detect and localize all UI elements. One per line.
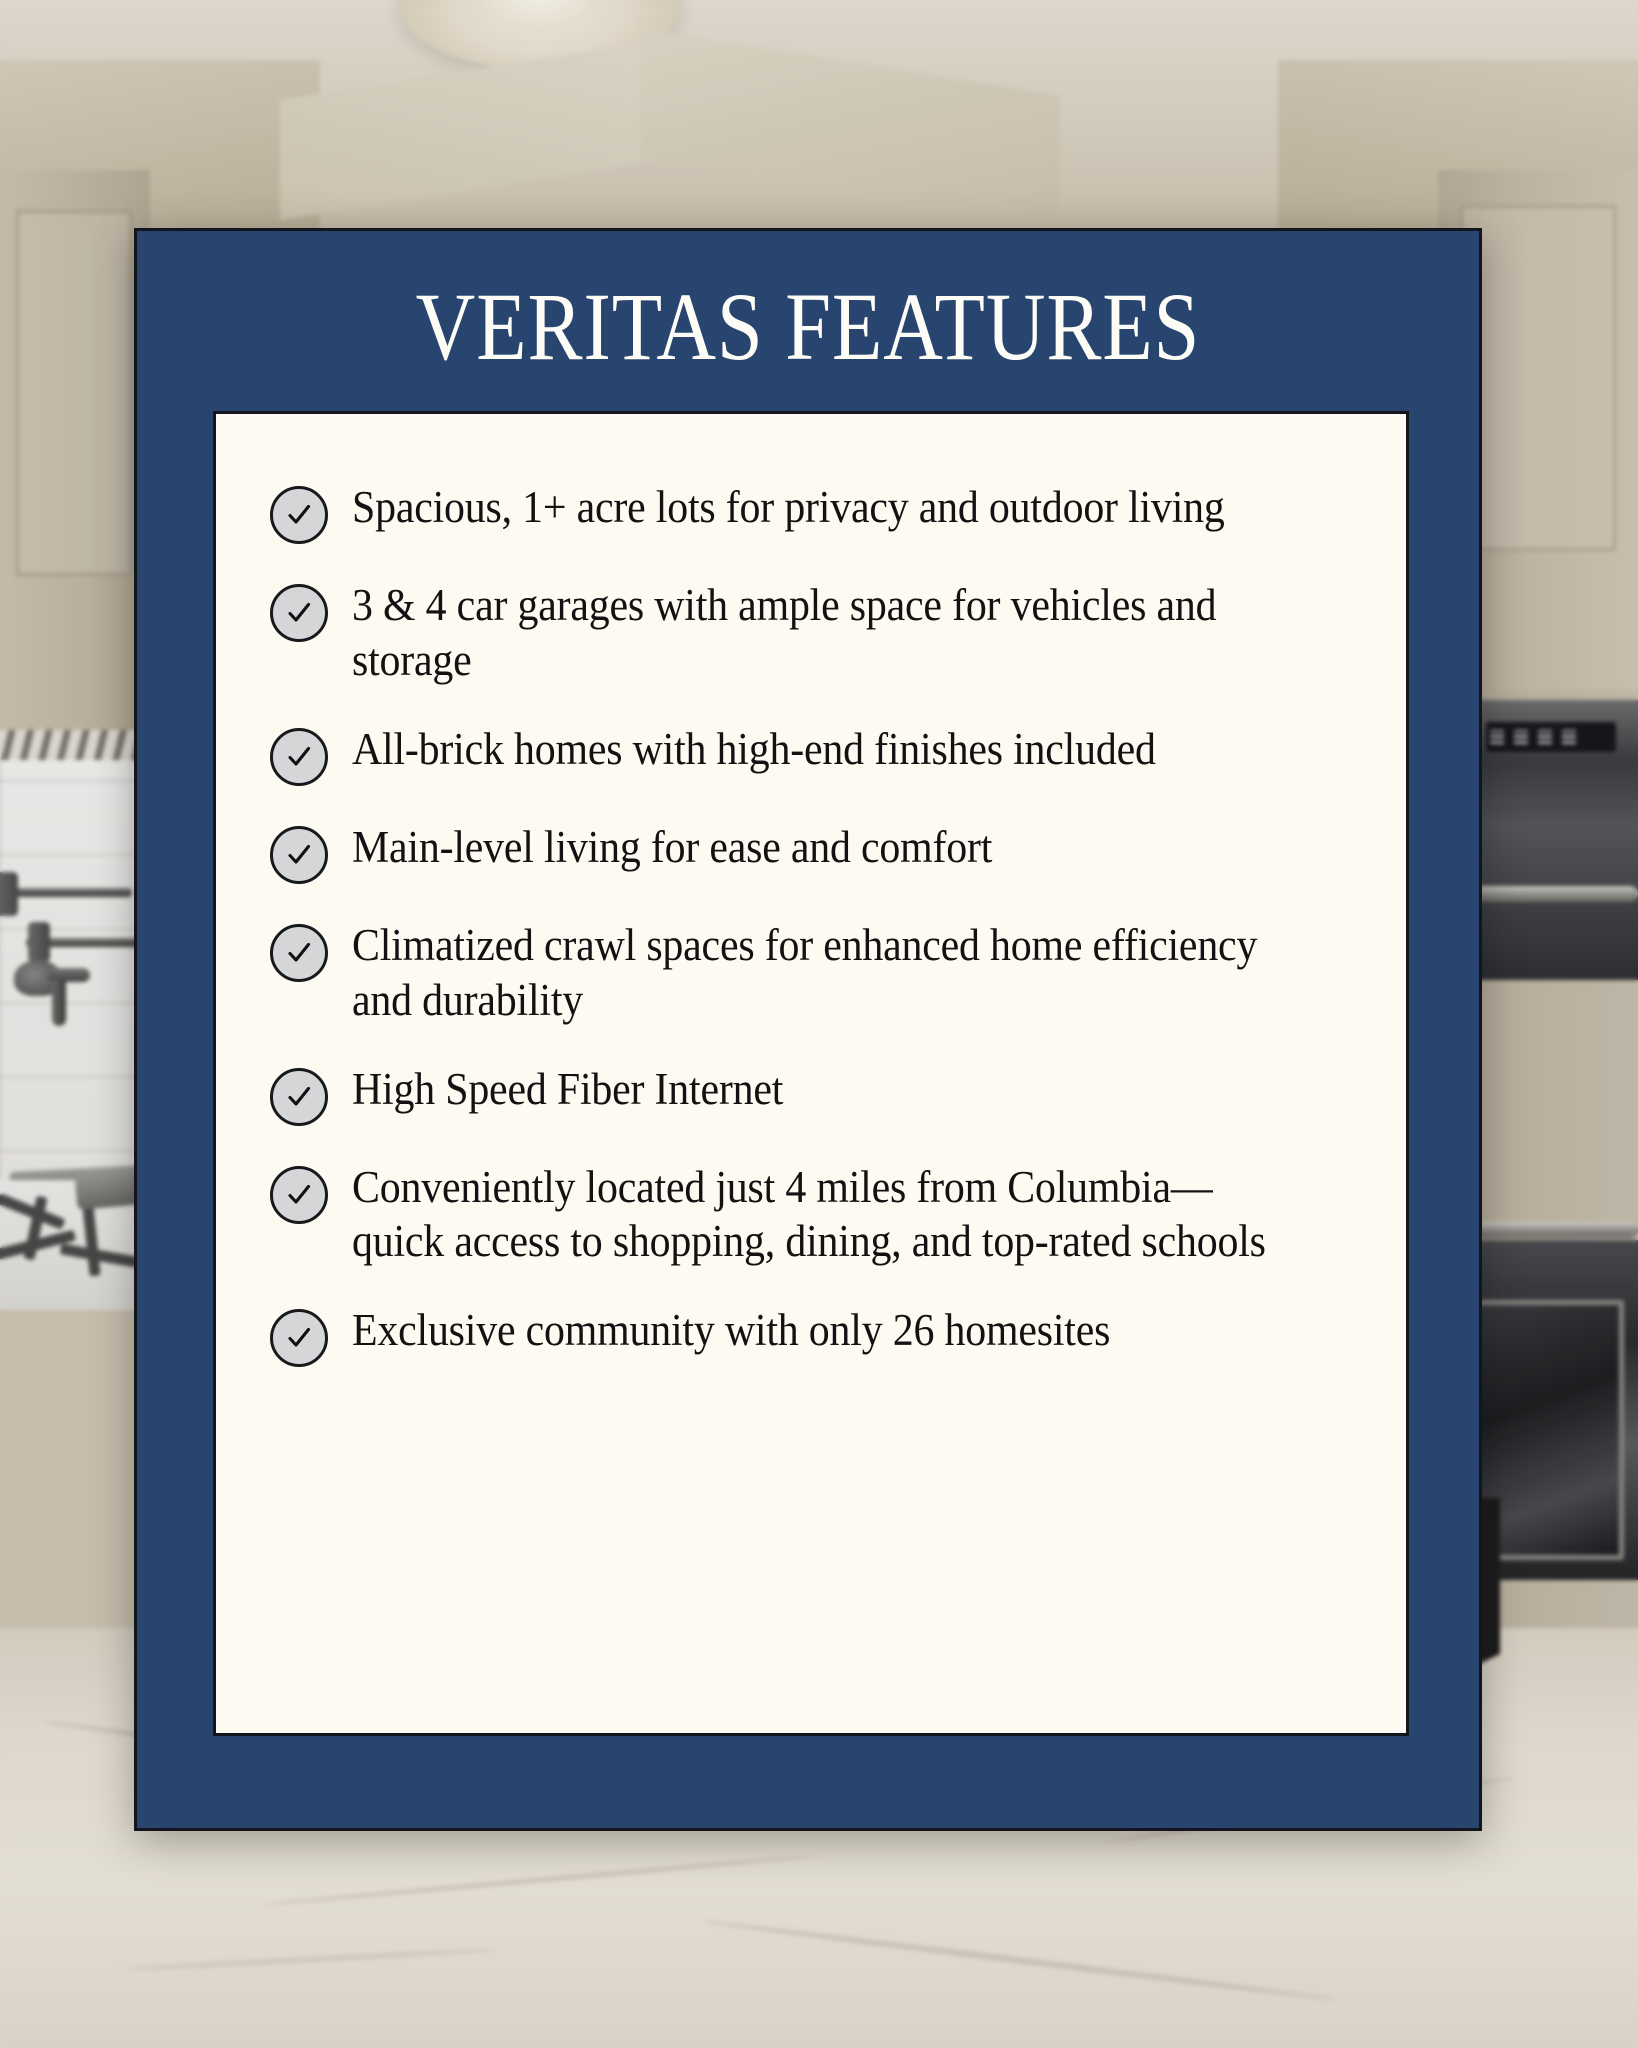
page-title: VERITAS FEATURES	[231, 279, 1385, 375]
poster-root: VERITAS FEATURES Spacious, 1+ acre lots …	[0, 0, 1638, 2048]
features-list: Spacious, 1+ acre lots for privacy and o…	[216, 414, 1406, 1367]
check-circle-icon	[270, 1309, 328, 1367]
list-item: All-brick homes with high-end finishes i…	[270, 722, 1350, 786]
check-circle-icon	[270, 728, 328, 786]
check-circle-icon	[270, 486, 328, 544]
list-item: Climatized crawl spaces for enhanced hom…	[270, 918, 1350, 1028]
list-item: Main-level living for ease and comfort	[270, 820, 1350, 884]
features-panel: VERITAS FEATURES Spacious, 1+ acre lots …	[134, 228, 1482, 1831]
feature-text: Conveniently located just 4 miles from C…	[352, 1160, 1280, 1270]
features-card: Spacious, 1+ acre lots for privacy and o…	[213, 411, 1409, 1736]
feature-text: High Speed Fiber Internet	[352, 1062, 1280, 1117]
feature-text: Main-level living for ease and comfort	[352, 820, 1280, 875]
feature-text: Climatized crawl spaces for enhanced hom…	[352, 918, 1280, 1028]
list-item: High Speed Fiber Internet	[270, 1062, 1350, 1126]
check-circle-icon	[270, 826, 328, 884]
feature-text: Spacious, 1+ acre lots for privacy and o…	[352, 480, 1280, 535]
list-item: Spacious, 1+ acre lots for privacy and o…	[270, 480, 1350, 544]
list-item: Conveniently located just 4 miles from C…	[270, 1160, 1350, 1270]
check-circle-icon	[270, 584, 328, 642]
feature-text: Exclusive community with only 26 homesit…	[352, 1303, 1280, 1358]
check-circle-icon	[270, 1068, 328, 1126]
check-circle-icon	[270, 1166, 328, 1224]
check-circle-icon	[270, 924, 328, 982]
list-item: Exclusive community with only 26 homesit…	[270, 1303, 1350, 1367]
feature-text: 3 & 4 car garages with ample space for v…	[352, 578, 1280, 688]
list-item: 3 & 4 car garages with ample space for v…	[270, 578, 1350, 688]
feature-text: All-brick homes with high-end finishes i…	[352, 722, 1280, 777]
